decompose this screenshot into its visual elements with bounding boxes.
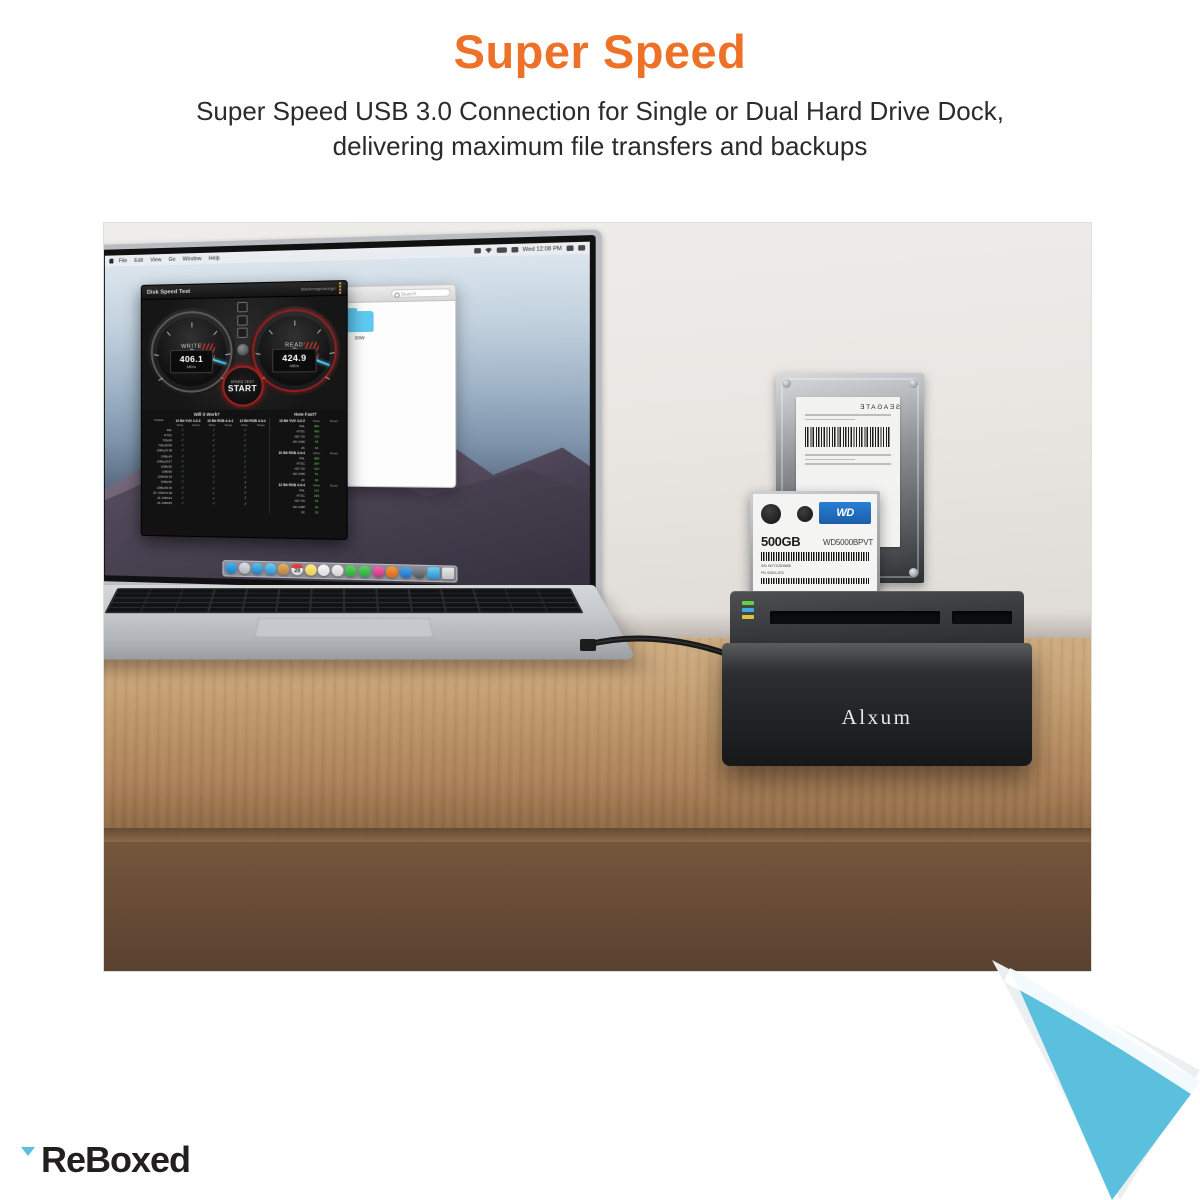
seagate-brand-text: SEAGATE (806, 404, 900, 411)
headline-block: Super Speed Super Speed USB 3.0 Connecti… (0, 26, 1200, 164)
speed-value: 78 (308, 440, 325, 444)
hdd-barcode (805, 427, 891, 447)
keyboard-key[interactable] (212, 598, 245, 602)
speed-value: 203 (308, 494, 325, 498)
check-icon: ✗ (237, 492, 253, 496)
keyboard-key[interactable] (311, 598, 343, 602)
format-name: 720p60 (146, 438, 175, 442)
finder-icon[interactable] (226, 563, 237, 575)
wd-label: WD 500GB WD5000BPVT S/N: WXT1C5D5688 PN:… (753, 494, 877, 606)
speed-value: 436 (308, 429, 325, 433)
settings-knob-icon[interactable] (237, 343, 248, 354)
read-unit: MB/s (289, 363, 299, 368)
speed-value: 33 (308, 510, 325, 514)
keyboard-key[interactable] (145, 598, 178, 602)
keyboard-key[interactable] (509, 598, 542, 602)
sub-write-1: Write (172, 423, 188, 427)
speed-format-name: HD 1080 (272, 472, 308, 476)
bluetooth-icon[interactable] (511, 247, 518, 253)
hdd-model-number: WD5000BPVT (823, 538, 873, 547)
format-name: 2K 1080/24 (146, 496, 175, 500)
hdd-screw-br (909, 568, 918, 577)
desk-front-panel (104, 842, 1091, 972)
label-line-4 (805, 459, 855, 461)
sub-read-1: Read (188, 423, 204, 427)
read-value: 424.9 (282, 352, 306, 363)
read-gauge-face: READ 424.9 MB/s (259, 315, 331, 386)
laptop-keyboard[interactable] (104, 588, 583, 613)
app-store-icon[interactable] (400, 567, 412, 579)
gauge-center-controls (237, 302, 248, 355)
check-icon: ✗ (237, 497, 253, 501)
keyboard-key[interactable] (345, 594, 376, 598)
subcolumn-headers: Write Read Write Read Write Read (146, 423, 269, 427)
keyboard-key[interactable] (180, 594, 213, 598)
keyboard-key[interactable] (479, 608, 513, 612)
table-row: PAL✓✓✓ (146, 427, 269, 432)
speed-value: 298 (308, 456, 325, 460)
check-icon: ✓ (175, 480, 190, 484)
safari-icon[interactable] (252, 563, 263, 575)
keyboard-key[interactable] (377, 589, 408, 593)
keyboard-key[interactable] (445, 603, 478, 607)
menu-bar-status-items: Wed 12:08 PM (474, 245, 585, 255)
keyboard-key[interactable] (538, 589, 571, 593)
keyboard-key[interactable] (446, 608, 479, 612)
speed-group-header: 10 Bit YUV 4:2:2WriteRead (272, 418, 342, 423)
trash-icon[interactable] (441, 568, 453, 580)
check-icon: ✓ (206, 454, 222, 458)
led-activity-icon (742, 608, 754, 612)
search-icon[interactable] (567, 245, 574, 251)
menu-item-help[interactable]: Help (209, 255, 220, 261)
battery-icon[interactable] (496, 247, 506, 253)
finder-search-field[interactable]: Search (391, 288, 451, 298)
hdd-25-barcode (761, 552, 869, 561)
system-preferences-icon[interactable] (414, 567, 426, 579)
keyboard-key[interactable] (506, 589, 538, 593)
keyboard-key[interactable] (378, 598, 410, 602)
keyboard-key[interactable] (345, 598, 377, 602)
speed-format-name: 2K (272, 445, 308, 449)
keyboard-key[interactable] (246, 594, 278, 598)
keyboard-key[interactable] (117, 589, 150, 593)
table-columns: Format 10 Bit YUV 4:2:2 10 Bit RGB 4:4:4… (146, 418, 342, 515)
keyboard-key[interactable] (215, 589, 247, 593)
keyboard-key[interactable] (312, 594, 343, 598)
check-icon: ✓ (237, 476, 253, 480)
keyboard-key[interactable] (513, 608, 547, 612)
check-icon: ✓ (175, 449, 190, 453)
check-icon: ✓ (175, 428, 190, 432)
keyboard-key[interactable] (547, 608, 581, 612)
keyboard-key[interactable] (244, 603, 277, 607)
screen-bezel: File Edit View Go Window Help Wed 12:08 … (103, 235, 596, 595)
hdd-25-barcode-2 (761, 578, 869, 584)
hdd-hole-mid (797, 506, 813, 522)
start-button[interactable]: SPEED TEST START (222, 365, 264, 406)
mail-icon[interactable] (265, 564, 277, 576)
wd-logo-icon: WD (819, 502, 871, 524)
keyboard-row (115, 594, 574, 598)
format-rows: PAL✓✓✓NTSC✓✓✓720p60✓✓✓720p50/59✓✓✓1080p2… (146, 427, 269, 507)
sub-read-3: Read (253, 423, 269, 427)
keyboard-key[interactable] (311, 608, 343, 612)
keyboard-key[interactable] (474, 589, 506, 593)
ibooks-icon[interactable] (386, 566, 398, 578)
led-power-icon (742, 601, 754, 605)
speed-value: 34 (308, 505, 325, 509)
keyboard-key[interactable] (182, 589, 214, 593)
speed-format-name: NTSC (272, 493, 308, 498)
facetime-icon[interactable] (359, 566, 371, 578)
check-icon: ✓ (237, 449, 253, 453)
label-line-5 (805, 463, 891, 465)
format-name: 1080p30 (146, 464, 175, 468)
indicator-square-3 (237, 328, 247, 338)
speed-value: 115 (308, 467, 325, 471)
format-name: 2K 1080/25 (146, 501, 175, 505)
label-line-1 (805, 414, 891, 416)
keyboard-key[interactable] (311, 603, 343, 607)
format-name: PAL (146, 428, 175, 432)
keyboard-key[interactable] (277, 608, 310, 612)
page-title: Super Speed (0, 26, 1200, 78)
keyboard-key[interactable] (411, 603, 444, 607)
speed-value: 61 (308, 445, 325, 449)
dock-gloss-highlight (722, 643, 1032, 673)
subtitle-line-2: delivering maximum file transfers and ba… (0, 129, 1200, 164)
control-center-icon[interactable] (578, 245, 585, 251)
table-headers: Will it Work? How Fast? (146, 412, 342, 417)
keyboard-key[interactable] (115, 594, 148, 598)
dock-body: Alxum (722, 591, 1032, 766)
speed-format-name: NTSC (272, 429, 308, 433)
keyboard-key[interactable] (476, 598, 509, 602)
keyboard-key[interactable] (213, 594, 245, 598)
messages-icon[interactable] (345, 565, 357, 577)
keyboard-row (107, 608, 581, 612)
keyboard-key[interactable] (278, 598, 310, 602)
apple-logo-icon[interactable] (109, 258, 114, 264)
write-unit: MB/s (187, 364, 196, 369)
itunes-icon[interactable] (372, 566, 384, 578)
wd-brand-text: WD (836, 507, 853, 519)
check-icon: ✓ (175, 501, 190, 505)
product-photo: File Edit View Go Window Help Wed 12:08 … (103, 222, 1092, 972)
docking-station: SEAGATE WD 500GB WD5000BPVT S/N: WXT1 (722, 373, 1032, 773)
keyboard-key[interactable] (177, 603, 210, 607)
speed-rows: 10 Bit YUV 4:2:2WriteReadPAL384NTSC436HD… (272, 418, 342, 515)
speed-format-name: PAL (272, 424, 308, 428)
speed-value: 51 (308, 472, 325, 476)
keyboard-key[interactable] (442, 589, 474, 593)
hdd-serial-line: S/N: WXT1C5D5688 (761, 564, 791, 568)
format-name: 1080p24 (146, 454, 175, 458)
keyboard-key[interactable] (540, 594, 573, 598)
speed-value: 69 (308, 478, 325, 482)
check-icon: ✗ (237, 481, 253, 485)
folder-label: 30W (346, 335, 374, 341)
speed-format-name: NTSC (272, 461, 308, 465)
reboxed-logo: ReBoxed (18, 1142, 190, 1178)
sub-read-2: Read (220, 423, 236, 427)
keyboard-key[interactable] (475, 594, 508, 598)
corner-accent-graphic (970, 950, 1200, 1200)
keyboard-key[interactable] (112, 598, 145, 602)
desk-edge (104, 828, 1091, 842)
keyboard-key[interactable] (110, 603, 144, 607)
keyboard-key[interactable] (409, 589, 441, 593)
menu-bar-clock[interactable]: Wed 12:08 PM (523, 245, 562, 253)
keyboard-key[interactable] (378, 603, 410, 607)
how-fast-panel: 10 Bit YUV 4:2:2WriteReadPAL384NTSC436HD… (269, 418, 342, 515)
reboxed-mark-icon (18, 1144, 40, 1178)
write-value: 406.1 (180, 354, 204, 364)
format-name: NTSC (146, 433, 175, 437)
keyboard-key[interactable] (247, 589, 279, 593)
reminders-icon[interactable] (318, 565, 330, 577)
keyboard-key[interactable] (345, 603, 377, 607)
keyboard-key[interactable] (542, 598, 575, 602)
check-icon: ✓ (206, 502, 222, 506)
format-name: 720p50/59 (146, 443, 175, 447)
keyboard-key[interactable] (410, 594, 442, 598)
label-line-3 (805, 454, 891, 456)
check-icon: ✓ (237, 428, 253, 432)
gauges-panel: WRITE 406.1 MB/s (142, 296, 347, 411)
keyboard-key[interactable] (209, 608, 242, 612)
speed-format-name: HD 720 (272, 499, 308, 504)
finder-window[interactable]: Search 30W (334, 284, 457, 488)
keyboard-key[interactable] (179, 598, 212, 602)
speed-format-name: PAL (272, 488, 308, 493)
keyboard-row (117, 589, 571, 593)
laptop-screen: File Edit View Go Window Help Wed 12:08 … (105, 242, 590, 589)
notes-icon[interactable] (305, 564, 317, 576)
keyboard-row (112, 598, 576, 602)
photos-icon[interactable] (332, 565, 344, 577)
keyboard-key[interactable] (278, 603, 310, 607)
format-name: 1080i59.94 (146, 475, 175, 479)
keyboard-key[interactable] (412, 608, 445, 612)
read-gauge-ticks (259, 315, 331, 316)
keyboard-key[interactable] (175, 608, 209, 612)
corner-blue-shape (1010, 968, 1200, 1200)
dock-led-indicators (742, 601, 754, 619)
folder-icon[interactable] (346, 311, 374, 332)
check-icon: ✗ (237, 487, 253, 491)
format-name: 1080p50 (146, 480, 175, 484)
check-icon: ✓ (237, 454, 253, 458)
format-name: 2K 1080/23.98 (146, 490, 175, 494)
disk-speed-test-window[interactable]: Disk Speed Test Blackmagicdesign (141, 280, 348, 540)
keyboard-key[interactable] (508, 594, 541, 598)
keyboard-key[interactable] (141, 608, 175, 612)
laptop-lid: File Edit View Go Window Help Wed 12:08 … (103, 229, 602, 612)
table-row: 2K 1080/25✓✓✗ (146, 500, 269, 507)
format-name: 1080p23.98 (146, 449, 175, 453)
keyboard-key[interactable] (245, 598, 277, 602)
keyboard-key[interactable] (411, 598, 443, 602)
hdd-screw-tr (909, 379, 918, 388)
check-icon: ✗ (237, 502, 253, 506)
keyboard-key[interactable] (478, 603, 511, 607)
keyboard-key[interactable] (147, 594, 180, 598)
keyboard-key[interactable] (345, 589, 376, 593)
dock-front-face: Alxum (722, 643, 1032, 766)
drive-slot-a[interactable] (770, 611, 940, 624)
keyboard-key[interactable] (544, 603, 578, 607)
keyboard-key[interactable] (377, 594, 409, 598)
menu-item-edit[interactable]: Edit (134, 257, 143, 263)
keyboard-key[interactable] (279, 594, 311, 598)
write-gauge-ticks (157, 317, 226, 318)
blackmagic-brand-label: Blackmagicdesign (301, 286, 335, 292)
led-clone-icon (742, 615, 754, 619)
drive-slot-b[interactable] (952, 611, 1012, 624)
keyboard-key[interactable] (280, 589, 311, 593)
speed-row: 2K33 (272, 509, 342, 515)
format-name: 1080p25/27 (146, 459, 175, 463)
how-fast-header: How Fast? (269, 412, 342, 417)
display-icon[interactable] (474, 248, 481, 254)
keyboard-key[interactable] (143, 603, 177, 607)
speed-format-name: PAL (272, 456, 308, 460)
write-gauge-face: WRITE 406.1 MB/s (157, 317, 226, 387)
start-button-label: START (228, 383, 257, 392)
format-name: 1080i50 (146, 470, 175, 474)
menu-item-view[interactable]: View (150, 257, 161, 263)
label-line-2 (805, 419, 855, 421)
speed-value: 173 (308, 435, 325, 439)
subtitle-line-1: Super Speed USB 3.0 Connection for Singl… (196, 96, 1004, 126)
format-name: 1080p59.94 (146, 485, 175, 489)
speed-value: 384 (308, 424, 325, 428)
check-icon: ✓ (206, 481, 222, 485)
hdd-capacity: 500GB (761, 534, 800, 549)
alxum-brand-text: Alxum (722, 705, 1032, 730)
reboxed-logo-text: ReBoxed (41, 1142, 190, 1178)
keyboard-key[interactable] (312, 589, 343, 593)
keyboard-key[interactable] (243, 608, 276, 612)
keyboard-key[interactable] (107, 608, 141, 612)
indicator-square-2 (237, 315, 247, 325)
keyboard-key[interactable] (149, 589, 181, 593)
keyboard-key[interactable] (210, 603, 243, 607)
speed-value: 304 (308, 462, 325, 466)
indicator-square-1 (237, 302, 247, 312)
will-it-work-header: Will it Work? (146, 412, 269, 417)
check-icon: ✓ (175, 454, 190, 458)
speed-value: 171 (308, 488, 325, 492)
hdd-part-line: PN: 0000X-1RX (761, 571, 784, 575)
speed-format-name: 2K (272, 509, 308, 514)
hdd-hole-left (761, 504, 781, 524)
calendar-icon[interactable]: 28 (291, 564, 303, 576)
macbook-laptop: File Edit View Go Window Help Wed 12:08 … (103, 245, 608, 805)
finder-file-area: 30W (335, 301, 455, 341)
launchpad-icon[interactable] (239, 563, 250, 575)
laptop-base (103, 585, 637, 659)
speed-format-name: HD 1080 (272, 440, 308, 444)
wifi-icon[interactable] (485, 248, 492, 254)
contacts-icon[interactable] (278, 564, 290, 576)
menu-item-window[interactable]: Window (183, 255, 202, 262)
keyboard-key[interactable] (511, 603, 545, 607)
keyboard-key[interactable] (345, 608, 377, 612)
laptop-trackpad[interactable] (254, 618, 433, 637)
keyboard-key[interactable] (378, 608, 411, 612)
results-table: Will it Work? How Fast? Format 10 Bit YU… (142, 410, 347, 539)
check-icon: ✓ (206, 449, 222, 453)
will-it-work-panel: Format 10 Bit YUV 4:2:2 10 Bit RGB 4:4:4… (146, 418, 269, 514)
usb-connector (580, 639, 596, 651)
speed-format-name: 2K (272, 477, 308, 481)
keyboard-row (110, 603, 579, 607)
hdd-screw-tl (782, 379, 791, 388)
app-title: Disk Speed Test (147, 288, 190, 295)
speed-format-name: HD 1080 (272, 504, 308, 509)
speed-value: 79 (308, 499, 325, 503)
read-readout: 424.9 MB/s (272, 348, 316, 372)
keyboard-key[interactable] (444, 598, 477, 602)
keyboard-key[interactable] (443, 594, 475, 598)
write-readout: 406.1 MB/s (170, 350, 213, 374)
blackmagic-logo-icon (339, 282, 342, 294)
page-subtitle: Super Speed USB 3.0 Connection for Singl… (0, 94, 1200, 164)
speed-format-name: HD 720 (272, 467, 308, 471)
check-icon: ✓ (206, 428, 222, 432)
menu-item-file[interactable]: File (119, 258, 127, 264)
menu-item-go[interactable]: Go (168, 256, 175, 262)
speed-format-name: HD 720 (272, 435, 308, 439)
downloads-icon[interactable] (428, 567, 440, 579)
